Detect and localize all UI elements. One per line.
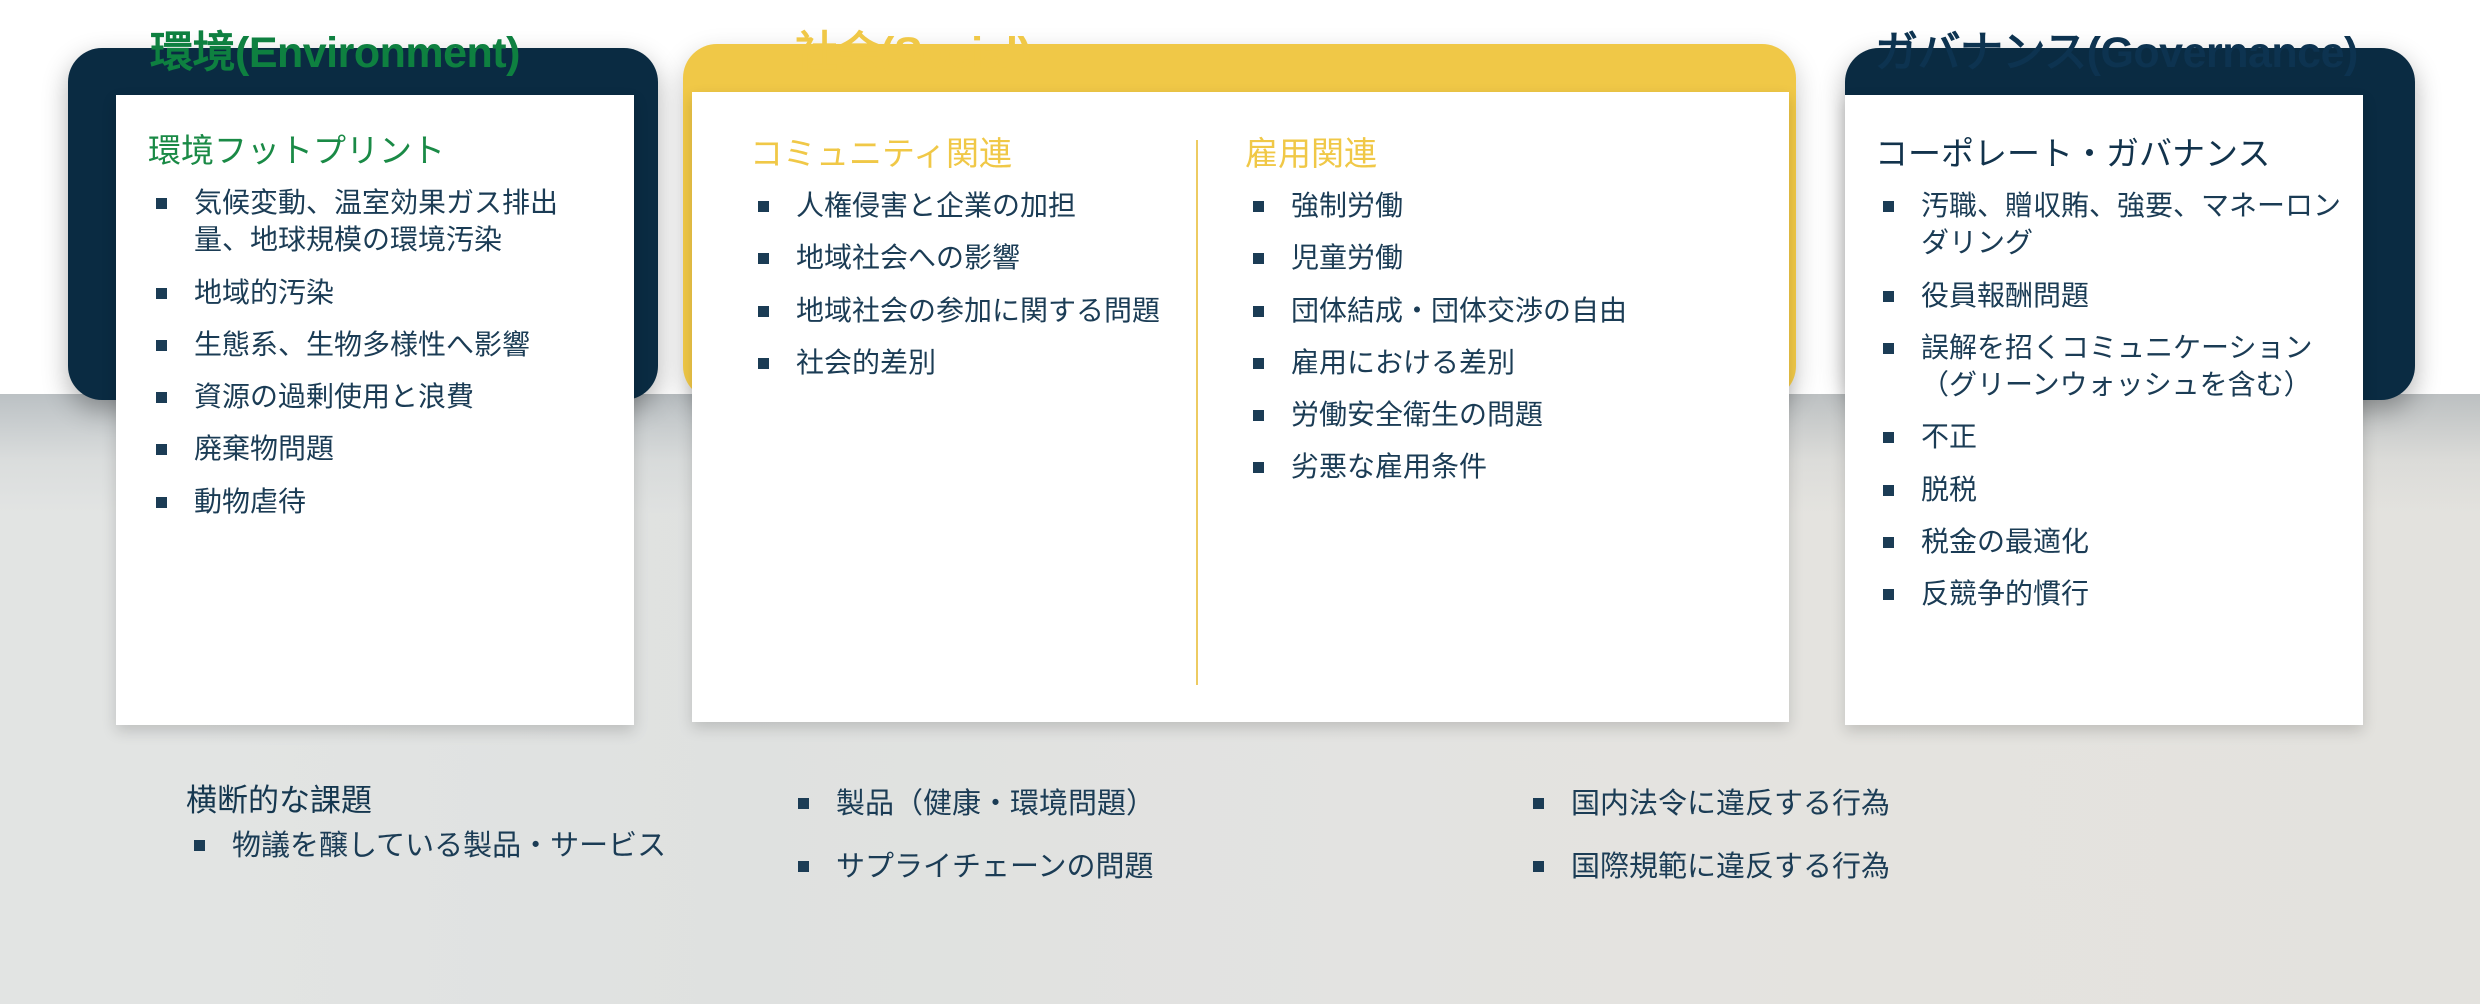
- section-title-social: 社会(Social): [795, 18, 1031, 80]
- list-governance: 汚職、贈収賄、強要、マネーロンダリング 役員報酬問題 誤解を招くコミュニケーショ…: [1875, 188, 2345, 613]
- section-title-environment: 環境(Environment): [150, 18, 520, 80]
- list-employment: 強制労働 児童労働 団体結成・団体交渉の自由 雇用における差別 労働安全衛生の問…: [1245, 188, 1745, 486]
- list-item: 不正: [1875, 419, 2345, 456]
- list-item: 動物虐待: [148, 484, 608, 521]
- list-item: 気候変動、温室効果ガス排出量、地球規模の環境汚染: [148, 185, 608, 259]
- list-item: 児童労働: [1245, 240, 1745, 277]
- list-item: 脱税: [1875, 472, 2345, 509]
- list-item: 汚職、贈収賄、強要、マネーロンダリング: [1875, 188, 2345, 262]
- list-item: 劣悪な雇用条件: [1245, 449, 1745, 486]
- list-item: 税金の最適化: [1875, 524, 2345, 561]
- list-crosscutting-3: 国内法令に違反する行為 国際規範に違反する行為: [1525, 785, 2085, 886]
- list-crosscutting-1: 物議を醸している製品・サービス: [186, 827, 746, 866]
- list-item: 強制労働: [1245, 188, 1745, 225]
- list-item: 製品（健康・環境問題）: [790, 785, 1350, 824]
- list-environment: 気候変動、温室効果ガス排出量、地球規模の環境汚染 地域的汚染 生態系、生物多様性…: [148, 185, 608, 521]
- heading-employment-related: 雇用関連: [1245, 135, 1745, 176]
- list-item: 労働安全衛生の問題: [1245, 397, 1745, 434]
- column-governance: コーポレート・ガバナンス 汚職、贈収賄、強要、マネーロンダリング 役員報酬問題 …: [1875, 135, 2345, 628]
- list-item: 雇用における差別: [1245, 345, 1745, 382]
- heading-crosscutting-issues: 横断的な課題: [186, 775, 372, 820]
- list-community: 人権侵害と企業の加担 地域社会への影響 地域社会の参加に関する問題 社会的差別: [750, 188, 1180, 382]
- list-item: 物議を醸している製品・サービス: [186, 827, 746, 866]
- list-item: 資源の過剰使用と浪費: [148, 379, 608, 416]
- heading-corporate-governance: コーポレート・ガバナンス: [1875, 135, 2345, 176]
- list-item: 団体結成・団体交渉の自由: [1245, 293, 1745, 330]
- list-item: 廃棄物問題: [148, 431, 608, 468]
- list-item: 国内法令に違反する行為: [1525, 785, 2085, 824]
- column-environment: 環境フットプリント 気候変動、温室効果ガス排出量、地球規模の環境汚染 地域的汚染…: [148, 132, 608, 536]
- crosscutting-column-1: 物議を醸している製品・サービス: [186, 827, 746, 890]
- list-item: 社会的差別: [750, 345, 1180, 382]
- list-item: 地域社会の参加に関する問題: [750, 293, 1180, 330]
- list-crosscutting-2: 製品（健康・環境問題） サプライチェーンの問題: [790, 785, 1350, 886]
- column-employment: 雇用関連 強制労働 児童労働 団体結成・団体交渉の自由 雇用における差別 労働安…: [1245, 135, 1745, 502]
- list-item: 地域社会への影響: [750, 240, 1180, 277]
- crosscutting-issues-section: 横断的な課題 物議を醸している製品・サービス 製品（健康・環境問題） サプライチ…: [0, 775, 2480, 955]
- crosscutting-column-2: 製品（健康・環境問題） サプライチェーンの問題: [790, 785, 1350, 910]
- heading-community-related: コミュニティ関連: [750, 135, 1180, 176]
- heading-environmental-footprint: 環境フットプリント: [148, 132, 608, 173]
- section-title-governance: ガバナンス(Governance): [1875, 18, 2358, 80]
- crosscutting-column-3: 国内法令に違反する行為 国際規範に違反する行為: [1525, 785, 2085, 910]
- list-item: 反競争的慣行: [1875, 576, 2345, 613]
- list-item: 国際規範に違反する行為: [1525, 848, 2085, 887]
- list-item: 生態系、生物多様性へ影響: [148, 327, 608, 364]
- list-item: 役員報酬問題: [1875, 278, 2345, 315]
- list-item: 人権侵害と企業の加担: [750, 188, 1180, 225]
- social-column-divider: [1196, 140, 1198, 685]
- column-community: コミュニティ関連 人権侵害と企業の加担 地域社会への影響 地域社会の参加に関する…: [750, 135, 1180, 397]
- list-item: サプライチェーンの問題: [790, 848, 1350, 887]
- list-item: 誤解を招くコミュニケーション（グリーンウォッシュを含む）: [1875, 330, 2345, 404]
- list-item: 地域的汚染: [148, 275, 608, 312]
